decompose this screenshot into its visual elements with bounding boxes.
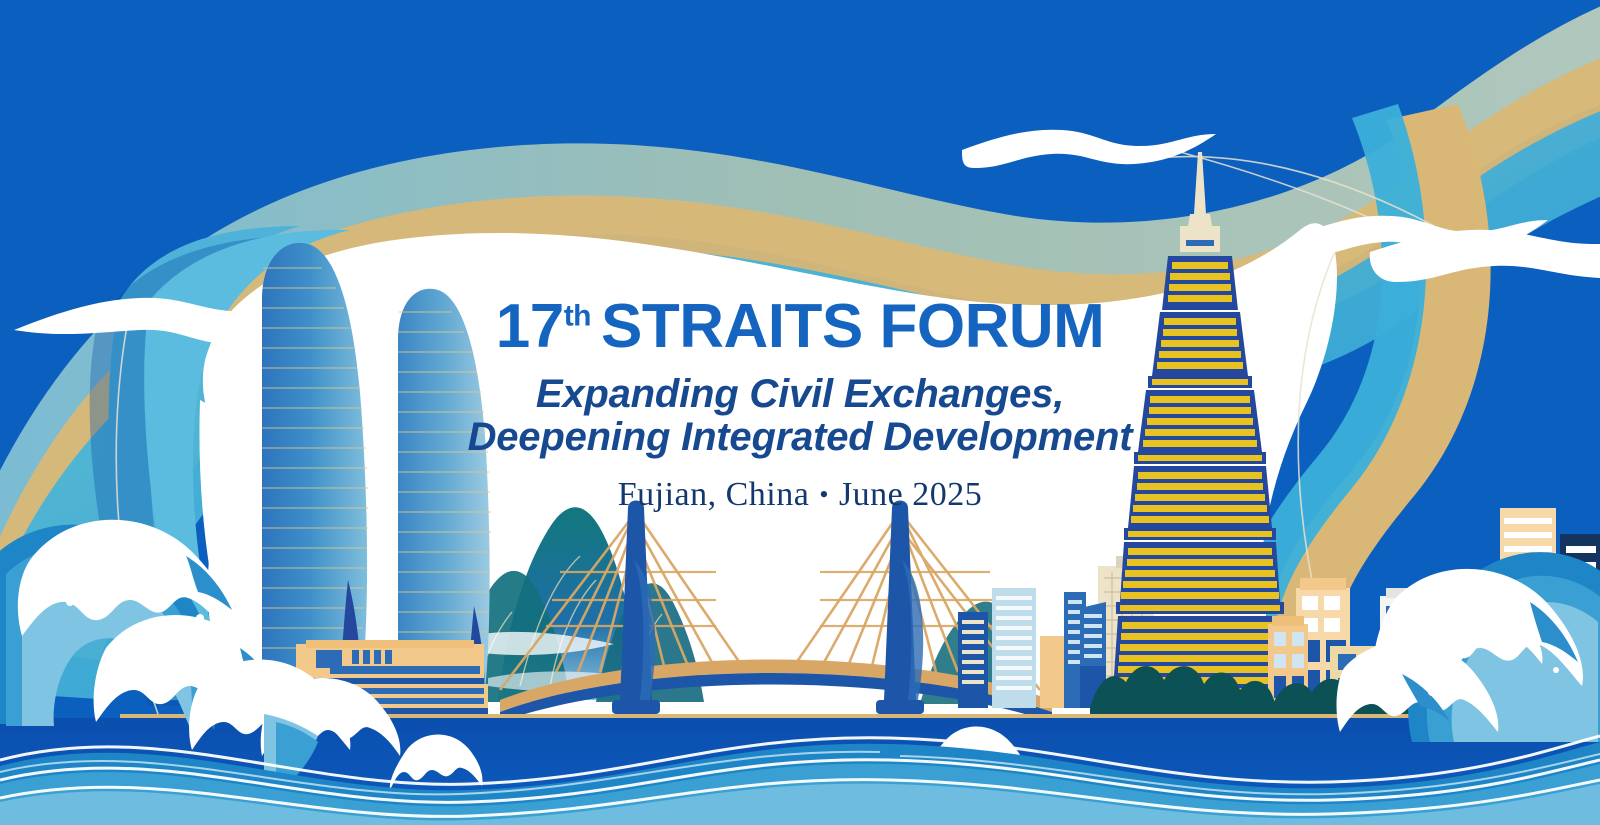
poster-illustration xyxy=(0,0,1600,825)
straits-forum-poster: 17thSTRAITS FORUM Expanding Civil Exchan… xyxy=(0,0,1600,825)
